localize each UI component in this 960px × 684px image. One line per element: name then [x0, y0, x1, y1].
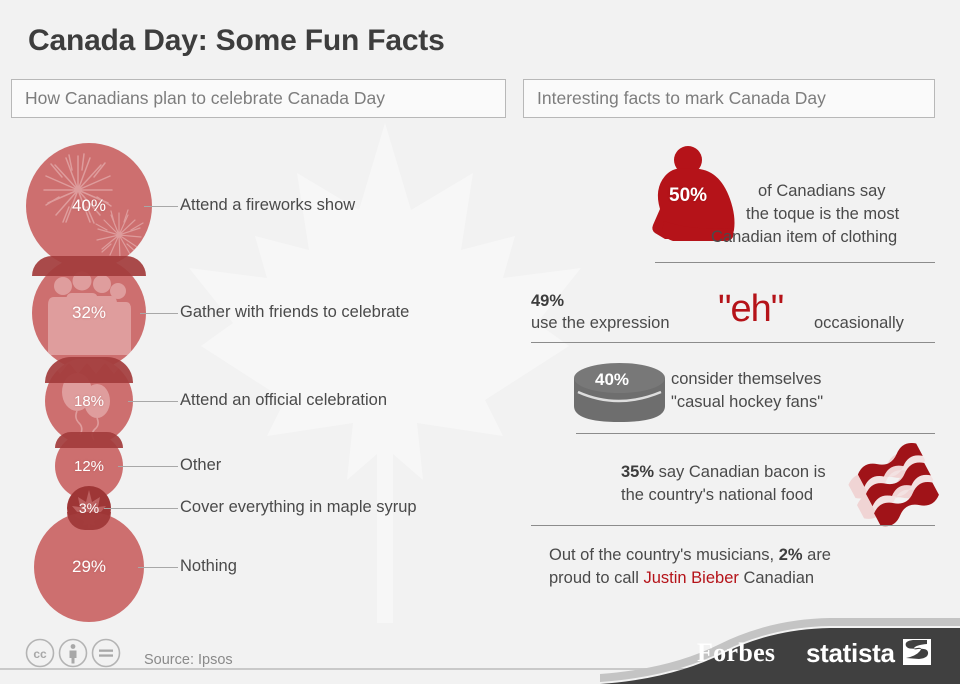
- bacon-text-line1: 35% say Canadian bacon is: [621, 461, 826, 484]
- facts-column: 50% of Canadians say the toque is the mo…: [523, 130, 943, 610]
- bubble-label-maple: Cover everything in maple syrup: [180, 498, 417, 517]
- divider-4: [531, 525, 935, 526]
- svg-text:cc: cc: [33, 647, 47, 661]
- toque-text-line1: of Canadians say: [758, 180, 886, 203]
- no-derivatives-icon[interactable]: [91, 638, 121, 668]
- leader-line-maple: [104, 508, 178, 509]
- bieber-text-line2-post: Canadian: [743, 569, 814, 587]
- source-label: Source: Ipsos: [144, 652, 233, 668]
- creative-commons-icon[interactable]: cc: [25, 638, 55, 668]
- bubble-overlap-32-18: [45, 357, 133, 383]
- toque-pct-label: 50%: [669, 185, 707, 207]
- bacon-text-rest: say Canadian bacon is: [659, 463, 826, 481]
- bieber-text-line2: proud to call Justin Bieber Canadian: [549, 567, 814, 590]
- bubble-label-fireworks: Attend a fireworks show: [180, 196, 355, 215]
- divider-2: [531, 342, 935, 343]
- divider-3: [576, 433, 935, 434]
- hockey-text-line2: "casual hockey fans": [671, 391, 823, 414]
- eh-pct-label: 49%: [531, 290, 564, 313]
- divider-1: [655, 262, 935, 263]
- bubble-pct-label: 18%: [74, 393, 104, 410]
- bubble-fireworks[interactable]: 40%: [26, 143, 152, 269]
- section-header-left-label: How Canadians plan to celebrate Canada D…: [12, 88, 385, 109]
- bubble-chart: 40% 32%: [0, 130, 510, 630]
- leader-line-nothing: [138, 567, 178, 568]
- brand-statista-logo: statista: [806, 638, 895, 669]
- leader-line-gather: [140, 313, 178, 314]
- eh-text-pre: use the expression: [531, 312, 670, 335]
- bubble-label-other: Other: [180, 456, 221, 475]
- section-header-left: How Canadians plan to celebrate Canada D…: [11, 79, 506, 118]
- bieber-pct-label: 2%: [779, 546, 803, 564]
- eh-text-post: occasionally: [814, 312, 904, 335]
- eh-pct-value: 49%: [531, 292, 564, 310]
- bubble-pct-label: 12%: [74, 458, 104, 475]
- toque-text-line3: Canadian item of clothing: [711, 226, 897, 249]
- leader-line-official: [128, 401, 178, 402]
- bubble-pct-label: 3%: [79, 500, 99, 516]
- bubble-label-nothing: Nothing: [180, 557, 237, 576]
- bubble-overlap-40-32: [32, 256, 146, 276]
- bubble-pct-label: 40%: [72, 196, 106, 216]
- bieber-text-line1: Out of the country's musicians, 2% are: [549, 544, 831, 567]
- bubble-overlap-18-12: [55, 432, 123, 448]
- bacon-text-line2: the country's national food: [621, 484, 813, 507]
- bieber-text-pre: Out of the country's musicians,: [549, 546, 774, 564]
- page-title: Canada Day: Some Fun Facts: [28, 24, 445, 58]
- leader-line-other: [118, 466, 178, 467]
- bieber-highlight: Justin Bieber: [643, 569, 738, 587]
- infographic-root: Canada Day: Some Fun Facts How Canadians…: [0, 0, 960, 684]
- statista-mark-icon: [903, 639, 931, 665]
- attribution-icon[interactable]: [58, 638, 88, 668]
- eh-highlight: "eh": [718, 288, 783, 331]
- bubble-label-gather: Gather with friends to celebrate: [180, 303, 409, 322]
- bacon-strips-icon: [848, 443, 953, 533]
- section-header-right: Interesting facts to mark Canada Day: [523, 79, 935, 118]
- bubble-pct-label: 32%: [72, 303, 106, 323]
- hockey-pct-label: 40%: [595, 370, 629, 390]
- section-header-right-label: Interesting facts to mark Canada Day: [524, 88, 826, 109]
- bieber-text-line2-pre: proud to call: [549, 569, 639, 587]
- brand-forbes-logo: Forbes: [697, 638, 775, 668]
- toque-text-line2: the toque is the most: [746, 203, 899, 226]
- bieber-text-mid: are: [807, 546, 831, 564]
- bubble-label-official: Attend an official celebration: [180, 391, 387, 410]
- bacon-pct-label: 35%: [621, 463, 654, 481]
- leader-line-fireworks: [144, 206, 178, 207]
- bubble-pct-label: 29%: [72, 557, 106, 577]
- hockey-text-line1: consider themselves: [671, 368, 821, 391]
